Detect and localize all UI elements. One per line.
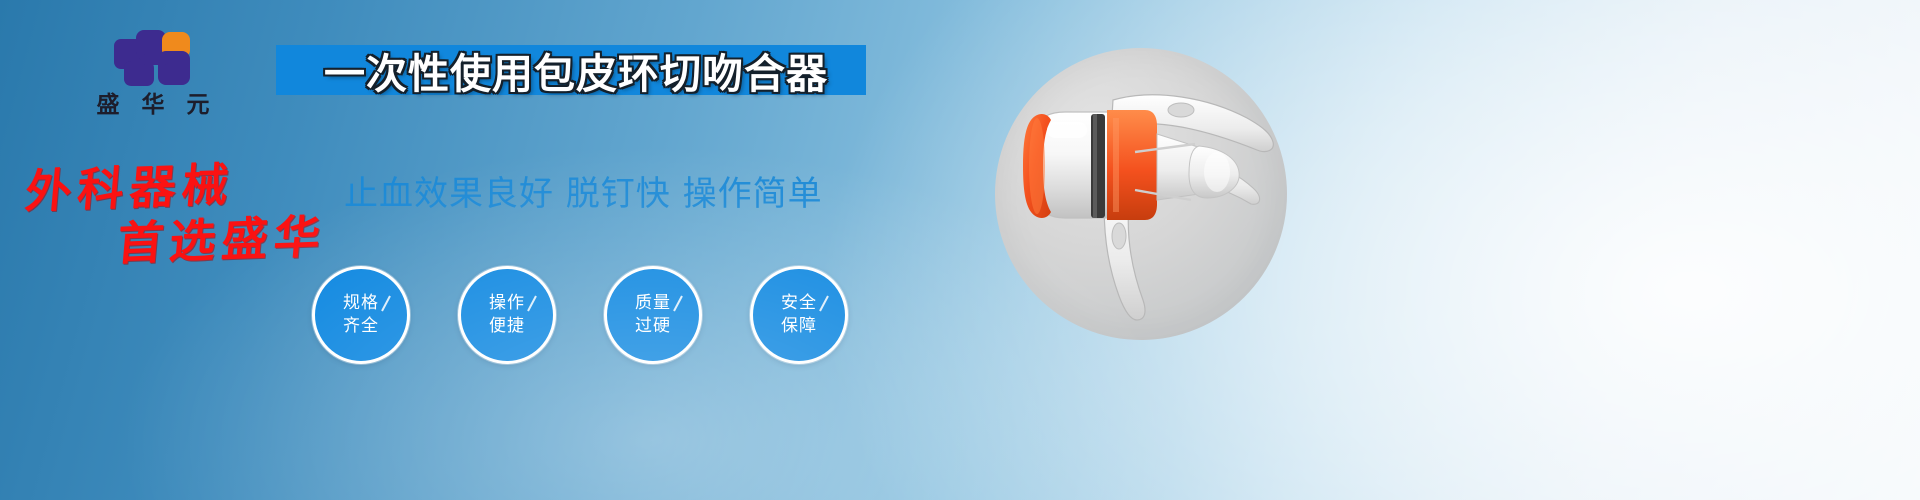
promo-banner: 盛 华 元 一次性使用包皮环切吻合器 外科器械 首选盛华 止血效果良好 脱钉快 … xyxy=(0,0,1920,500)
feature-badge-list: 规格 齐全 操作 便捷 质量 过硬 安全 保障 xyxy=(312,266,848,364)
shenghuayuan-logo-icon xyxy=(114,30,192,88)
feature-badge-2[interactable]: 操作 便捷 xyxy=(458,266,556,364)
slash-decoration-icon xyxy=(381,296,391,312)
brand-logo[interactable]: 盛 华 元 xyxy=(88,30,218,118)
logo-bridge xyxy=(142,54,168,65)
stapler-device-illustration xyxy=(995,48,1287,340)
feature-badge-2-line1: 操作 xyxy=(489,292,525,315)
feature-badge-4-line2: 保障 xyxy=(781,315,817,338)
slash-decoration-icon xyxy=(527,296,537,312)
feature-badge-1-line2: 齐全 xyxy=(343,315,379,338)
feature-badge-1-line1: 规格 xyxy=(343,292,379,315)
feature-badge-2-line2: 便捷 xyxy=(489,315,525,338)
page-title: 一次性使用包皮环切吻合器 xyxy=(286,41,866,99)
calligraphy-line-2: 首选盛华 xyxy=(115,200,330,273)
feature-badge-3-line2: 过硬 xyxy=(635,315,671,338)
feature-badge-3[interactable]: 质量 过硬 xyxy=(604,266,702,364)
brand-name: 盛 华 元 xyxy=(88,92,218,118)
product-photo xyxy=(995,48,1287,340)
feature-badge-3-line1: 质量 xyxy=(635,292,671,315)
slash-decoration-icon xyxy=(819,296,829,312)
slash-decoration-icon xyxy=(673,296,683,312)
feature-badge-4-line1: 安全 xyxy=(781,292,817,315)
feature-badge-4[interactable]: 安全 保障 xyxy=(750,266,848,364)
subtitle: 止血效果良好 脱钉快 操作简单 xyxy=(344,166,823,215)
feature-badge-1[interactable]: 规格 齐全 xyxy=(312,266,410,364)
